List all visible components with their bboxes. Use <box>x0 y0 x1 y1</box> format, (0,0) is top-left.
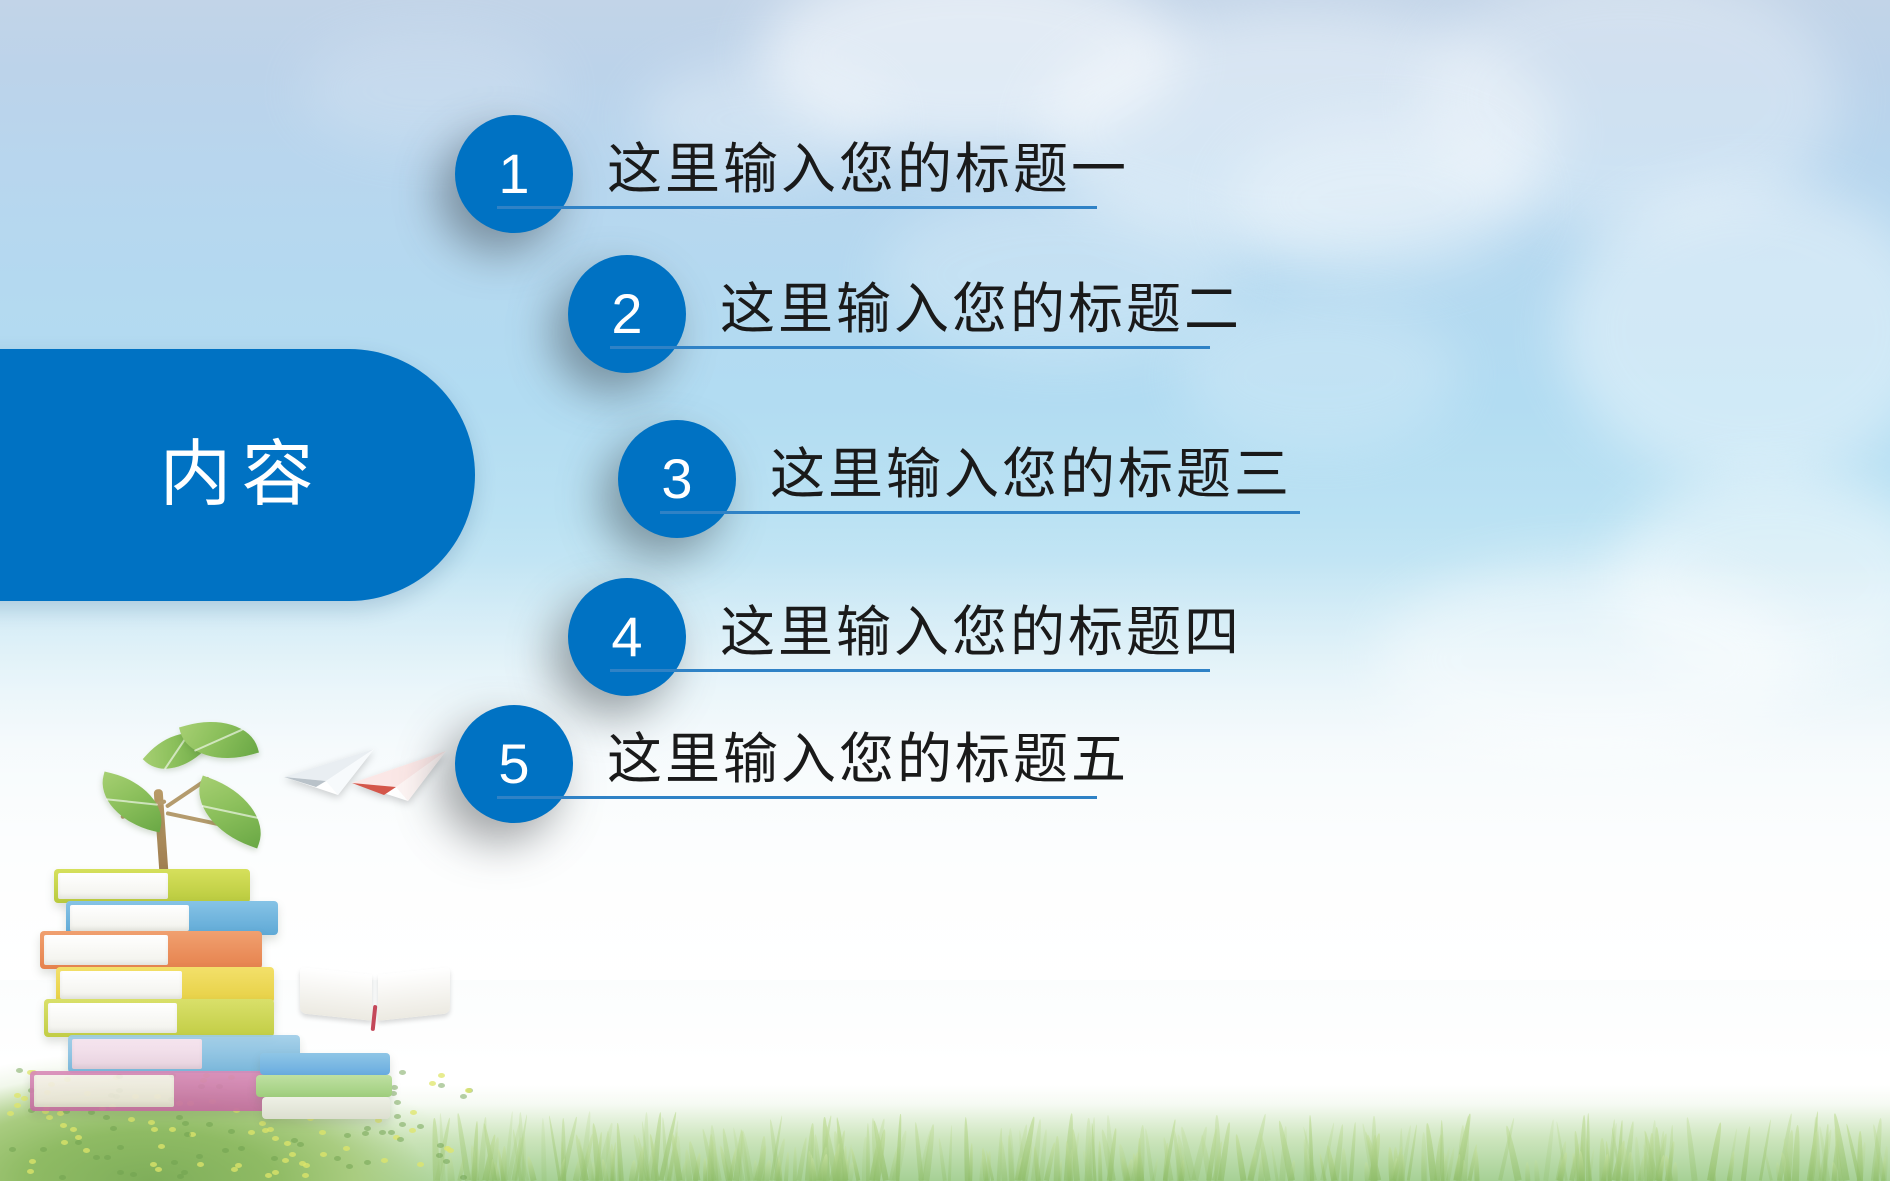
book <box>256 1075 392 1097</box>
slide-canvas: 内容 1 这里输入您的标题一 2 这里输入您的标题二 3 这里输入您的标题三 4… <box>0 0 1890 1181</box>
number-badge-3: 3 <box>618 420 736 538</box>
number-badge-5: 5 <box>455 705 573 823</box>
item-title-5: 这里输入您的标题五 <box>607 729 1129 791</box>
stacked-books <box>10 851 310 1141</box>
number-badge-4: 4 <box>568 578 686 696</box>
sprout-leaf <box>186 776 275 849</box>
sprout-leaf <box>179 708 259 772</box>
book <box>44 999 274 1037</box>
open-book <box>300 971 450 1037</box>
item-title-3: 这里输入您的标题三 <box>770 444 1300 506</box>
open-book-page-left <box>300 967 372 1021</box>
content-item-1[interactable]: 1 这里输入您的标题一 <box>455 115 1129 233</box>
item-underline-1 <box>497 206 1097 209</box>
item-underline-2 <box>610 346 1210 349</box>
number-badge-2: 2 <box>568 255 686 373</box>
book <box>30 1071 280 1111</box>
open-book-page-right <box>378 967 450 1021</box>
book <box>54 869 250 903</box>
item-title-2: 这里输入您的标题二 <box>720 279 1242 341</box>
book <box>262 1097 390 1119</box>
content-item-3[interactable]: 3 这里输入您的标题三 <box>618 420 1300 538</box>
item-title-1: 这里输入您的标题一 <box>607 139 1129 201</box>
decoration-group <box>0 621 480 1181</box>
book <box>260 1053 390 1075</box>
grass-blade <box>793 1147 797 1181</box>
grass-blade <box>1054 1136 1060 1181</box>
item-title-4: 这里输入您的标题四 <box>720 602 1242 664</box>
item-underline-3 <box>660 511 1300 514</box>
section-label: 内容 <box>159 439 323 511</box>
cloud-shape <box>1230 120 1530 280</box>
section-pill: 内容 <box>0 349 475 601</box>
book <box>40 931 262 969</box>
content-item-4[interactable]: 4 这里输入您的标题四 <box>568 578 1242 696</box>
content-item-2[interactable]: 2 这里输入您的标题二 <box>568 255 1242 373</box>
paper-plane-icon <box>350 747 450 809</box>
book <box>56 967 274 1003</box>
book <box>66 901 278 935</box>
content-item-5[interactable]: 5 这里输入您的标题五 <box>455 705 1129 823</box>
number-badge-1: 1 <box>455 115 573 233</box>
item-underline-4 <box>610 669 1210 672</box>
item-underline-5 <box>497 796 1097 799</box>
